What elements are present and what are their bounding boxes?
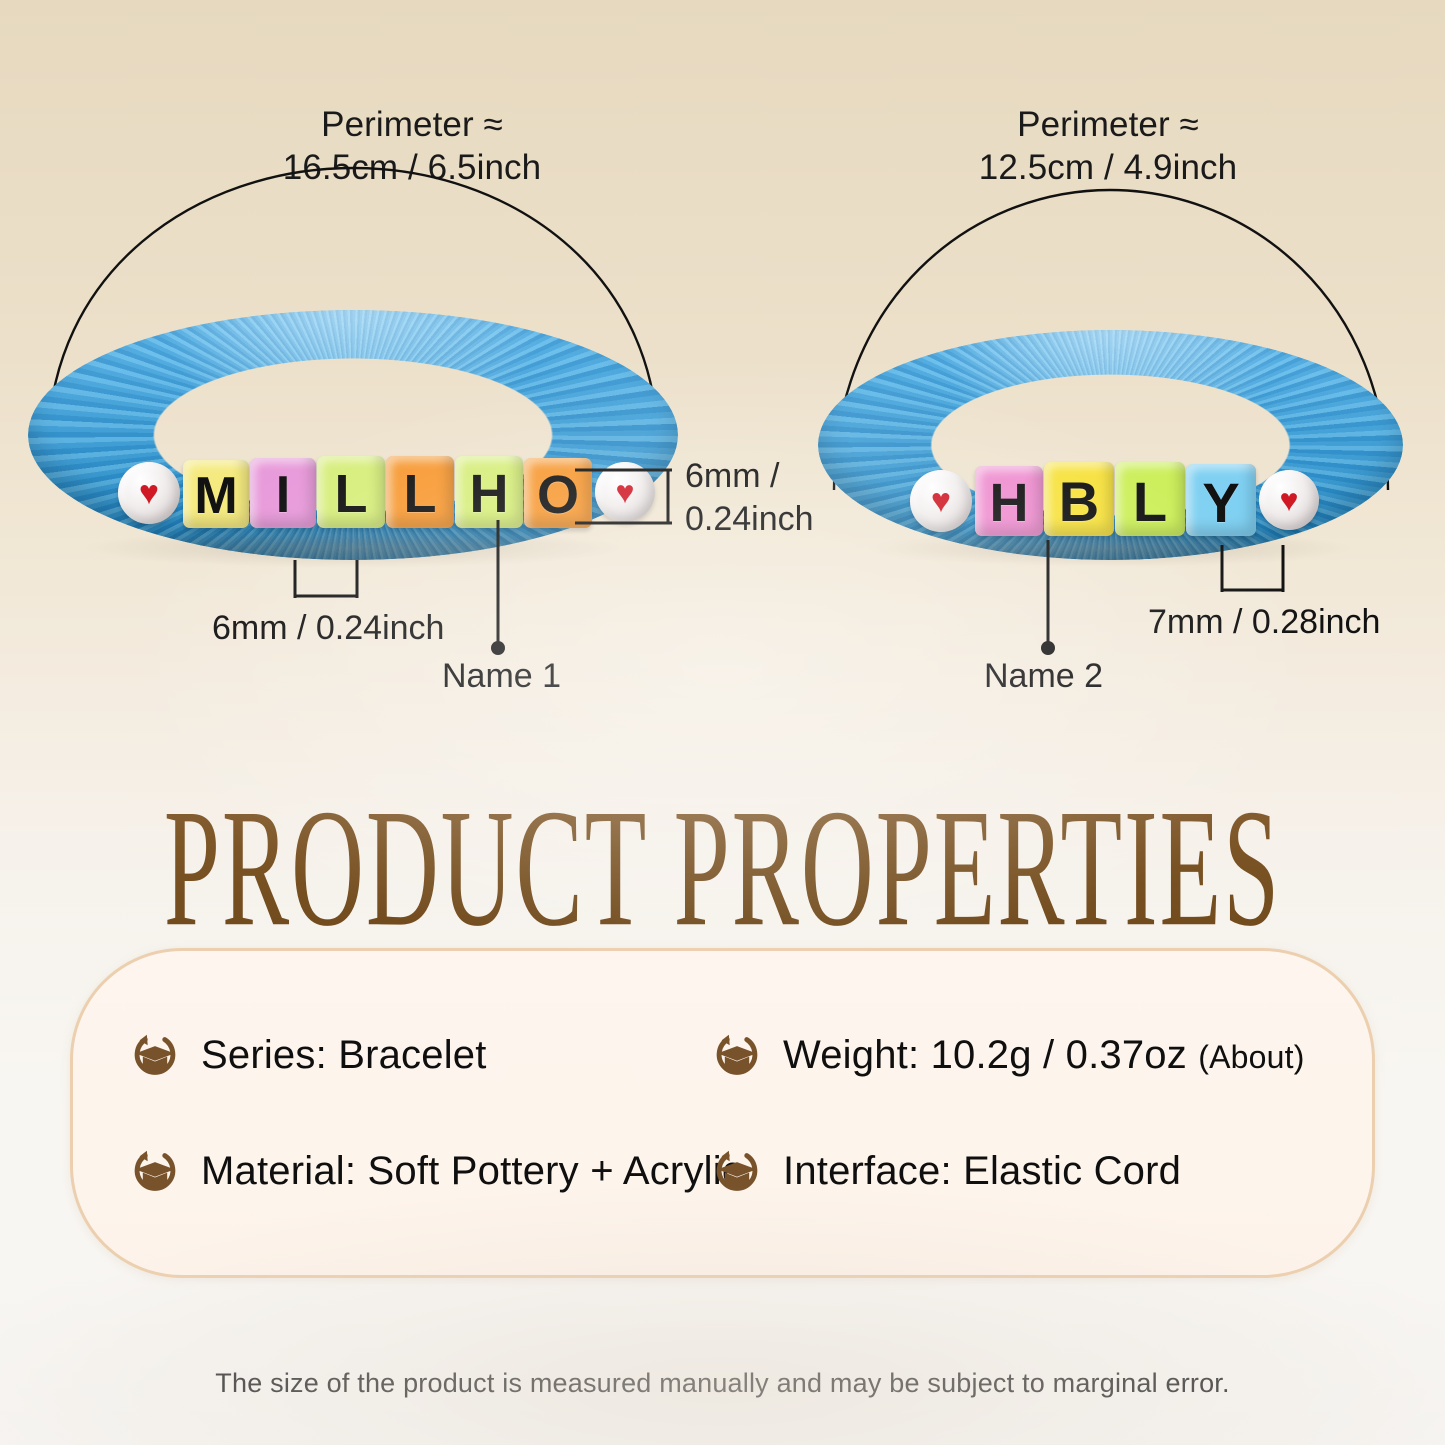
- property-label: Weight: 10.2g / 0.37oz: [783, 1033, 1187, 1077]
- product-properties-card: Series: Bracelet Weight: 10.2g / 0.37oz …: [70, 948, 1375, 1278]
- bracelet-1-cube-size-callout: 6mm / 0.24inch: [212, 608, 542, 649]
- bracelet-1-thickness-callout: 6mm / 0.24inch: [685, 455, 935, 540]
- disclaimer-text: The size of the product is measured manu…: [0, 1368, 1445, 1399]
- property-row-weight: Weight: 10.2g / 0.37oz (About): [699, 1029, 1330, 1081]
- thickness-line-2: 0.24inch: [685, 500, 814, 538]
- graduation-cap-refresh-icon: [711, 1145, 763, 1197]
- property-label: Material: Soft Pottery + Acrylic: [201, 1149, 742, 1193]
- property-row-material: Material: Soft Pottery + Acrylic: [129, 1145, 699, 1197]
- page-title: PRODUCT PROPERTIES: [22, 772, 1424, 965]
- name-1-callout: Name 1: [442, 656, 702, 697]
- property-suffix: (About): [1198, 1039, 1304, 1075]
- property-row-series: Series: Bracelet: [129, 1029, 699, 1081]
- product-infographic: Perimeter ≈ 16.5cm / 6.5inch Perimeter ≈…: [0, 0, 1445, 1445]
- property-row-interface: Interface: Elastic Cord: [699, 1145, 1330, 1197]
- thickness-line-1: 6mm /: [685, 457, 779, 495]
- bracelet-2-heart-size-callout: 7mm / 0.28inch: [1148, 602, 1445, 643]
- properties-grid: Series: Bracelet Weight: 10.2g / 0.37oz …: [73, 951, 1372, 1275]
- property-text: Weight: 10.2g / 0.37oz (About): [783, 1033, 1305, 1078]
- graduation-cap-refresh-icon: [129, 1145, 181, 1197]
- property-label: Interface: Elastic Cord: [783, 1149, 1181, 1193]
- property-label: Series: Bracelet: [201, 1033, 487, 1077]
- property-text: Interface: Elastic Cord: [783, 1149, 1181, 1194]
- graduation-cap-refresh-icon: [711, 1029, 763, 1081]
- property-text: Material: Soft Pottery + Acrylic: [201, 1149, 742, 1194]
- property-text: Series: Bracelet: [201, 1033, 487, 1078]
- name-2-callout: Name 2: [984, 656, 1234, 697]
- graduation-cap-refresh-icon: [129, 1029, 181, 1081]
